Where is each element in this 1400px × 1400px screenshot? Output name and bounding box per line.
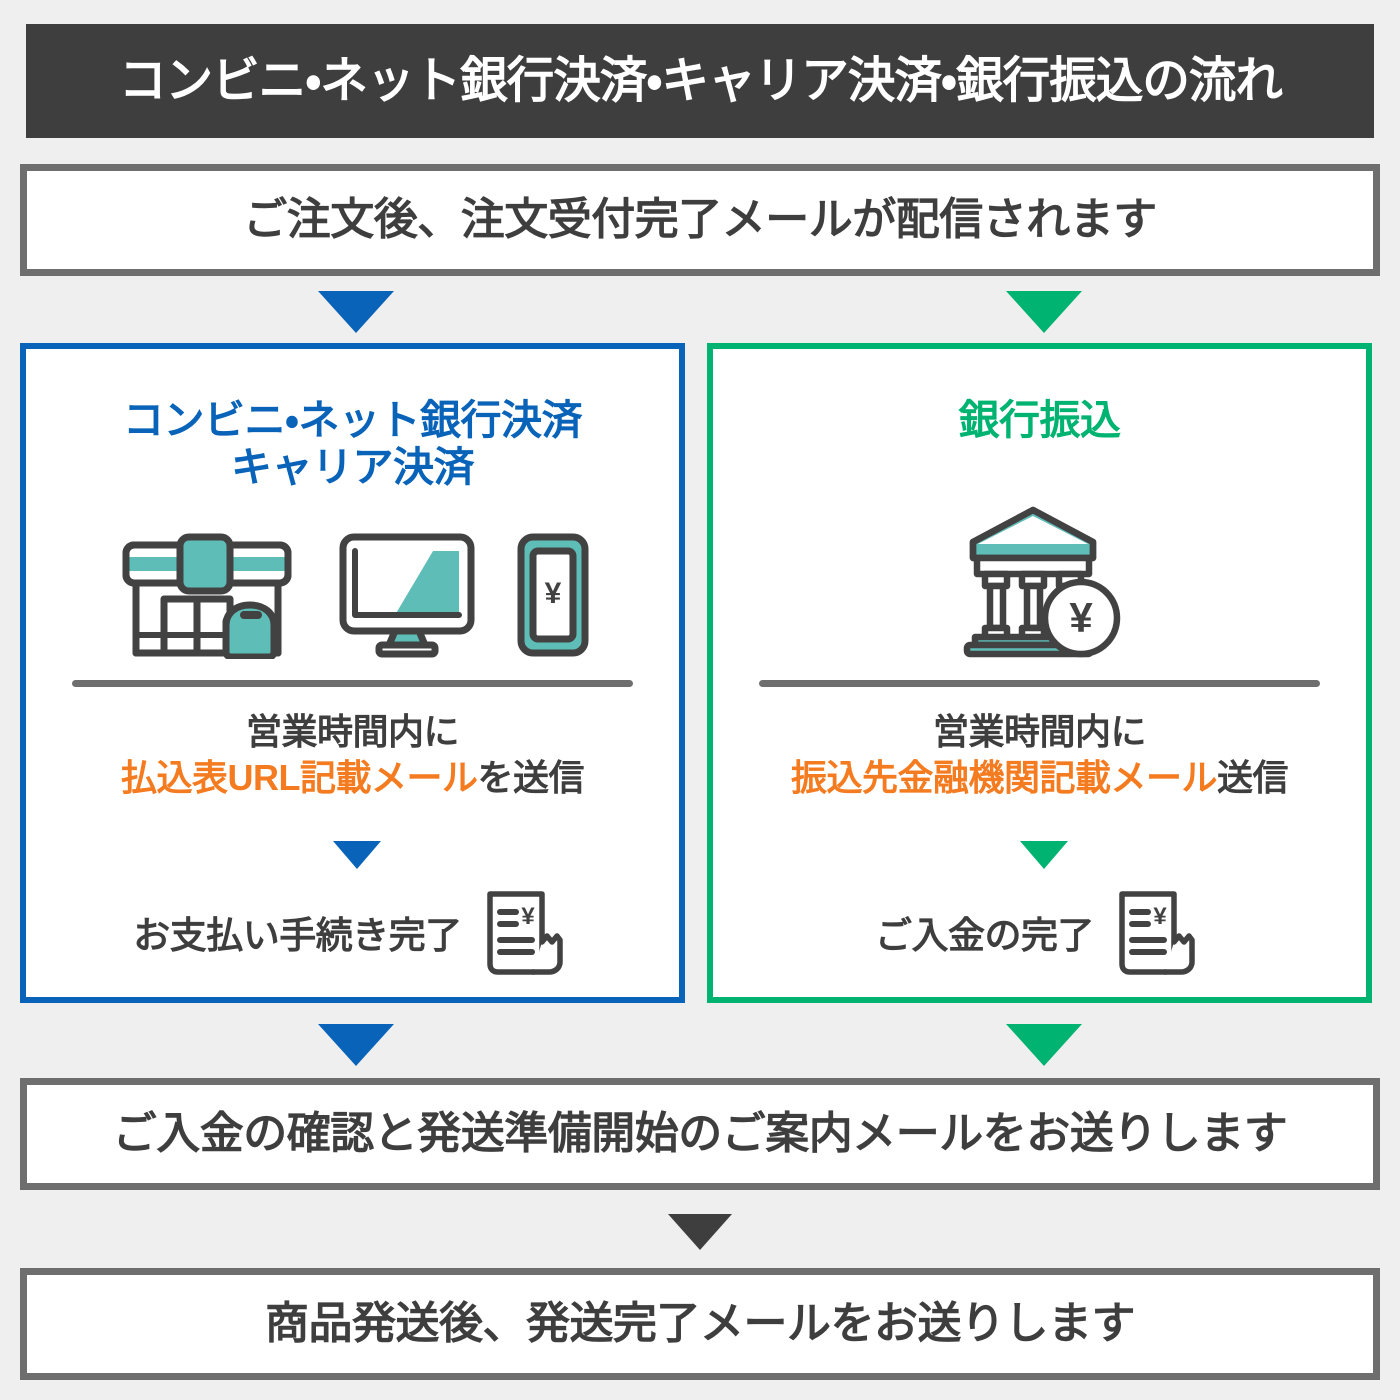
- panel-konbini-sub-line2: 払込表URL記載メールを送信: [26, 757, 679, 799]
- panel-konbini-title: コンビニ・ネット銀行決済 キャリア決済: [26, 397, 679, 490]
- flow-diagram: コンビニ・ネット銀行決済・キャリア決済・銀行振込の流れ ご注文後、注文受付完了メ…: [0, 0, 1400, 1400]
- step-order-text: ご注文後、注文受付完了メールが配信されます: [243, 198, 1157, 242]
- convenience-store-icon: [114, 531, 299, 659]
- panel-konbini-sub-line1: 営業時間内に: [26, 711, 679, 753]
- svg-text:¥: ¥: [521, 903, 535, 930]
- panel-konbini-title-line1: コンビニ・ネット銀行決済: [26, 397, 679, 444]
- bank-yen-coin-icon: ¥: [945, 504, 1135, 662]
- step-box-payment-confirmed: ご入金の確認と発送準備開始のご案内メールをお送りします: [20, 1078, 1380, 1190]
- diagram-title: コンビニ・ネット銀行決済・キャリア決済・銀行振込の流れ: [118, 57, 1281, 106]
- panel-furikomi-sub-tail: 送信: [1217, 757, 1288, 798]
- panel-furikomi-final-row: ご入金の完了 ¥: [713, 884, 1366, 980]
- arrow-down-to-furikomi-icon: [1006, 291, 1082, 333]
- step-shipped-text: 商品発送後、発送完了メールをお送りします: [265, 1302, 1135, 1346]
- panel-konbini-sub-tail: を送信: [477, 757, 584, 798]
- panel-furikomi-title: 銀行振込: [713, 397, 1366, 444]
- panel-furikomi-sub-line1: 営業時間内に: [713, 711, 1366, 753]
- panel-konbini-final-text: お支払い手続き完了: [133, 905, 462, 959]
- panel-furikomi-divider: [759, 680, 1320, 687]
- svg-text:¥: ¥: [1069, 594, 1093, 641]
- panel-konbini-sub-block: 営業時間内に 払込表URL記載メールを送信: [26, 711, 679, 800]
- svg-text:¥: ¥: [1153, 903, 1167, 930]
- panel-konbini-title-line2: キャリア決済: [26, 444, 679, 491]
- receipt-hand-icon: ¥: [1108, 884, 1204, 980]
- panel-konbini-icon-row: ¥: [26, 529, 679, 659]
- arrow-down-to-shipped-icon: [668, 1214, 732, 1250]
- panel-konbini-inner-arrow-icon: [333, 841, 381, 869]
- arrow-down-from-konbini-icon: [318, 1024, 394, 1066]
- step-box-shipped: 商品発送後、発送完了メールをお送りします: [20, 1268, 1380, 1380]
- smartphone-yen-icon: ¥: [515, 531, 591, 659]
- panel-furikomi-highlight: 振込先金融機関記載メール: [791, 757, 1217, 798]
- panel-furikomi: 銀行振込: [707, 343, 1372, 1003]
- panel-konbini-highlight: 払込表URL記載メール: [121, 757, 478, 798]
- panel-furikomi-inner-arrow-icon: [1020, 841, 1068, 869]
- receipt-hand-icon: ¥: [476, 884, 572, 980]
- panel-furikomi-icon-row: ¥: [713, 504, 1366, 662]
- panel-konbini-divider: [72, 680, 633, 687]
- panel-furikomi-final-text: ご入金の完了: [875, 905, 1094, 959]
- panel-konbini-final-row: お支払い手続き完了 ¥: [26, 884, 679, 980]
- step-confirm-text: ご入金の確認と発送準備開始のご案内メールをお送りします: [113, 1112, 1288, 1156]
- panel-furikomi-title-line1: 銀行振込: [713, 397, 1366, 444]
- panel-konbini: コンビニ・ネット銀行決済 キャリア決済: [20, 343, 685, 1003]
- svg-text:¥: ¥: [545, 577, 562, 610]
- arrow-down-from-furikomi-icon: [1006, 1024, 1082, 1066]
- panel-furikomi-sub-block: 営業時間内に 振込先金融機関記載メール送信: [713, 711, 1366, 800]
- panel-furikomi-sub-line2: 振込先金融機関記載メール送信: [713, 757, 1366, 799]
- arrow-down-to-konbini-icon: [318, 291, 394, 333]
- diagram-header: コンビニ・ネット銀行決済・キャリア決済・銀行振込の流れ: [26, 24, 1374, 138]
- step-box-order: ご注文後、注文受付完了メールが配信されます: [20, 164, 1380, 276]
- desktop-monitor-icon: [337, 529, 477, 659]
